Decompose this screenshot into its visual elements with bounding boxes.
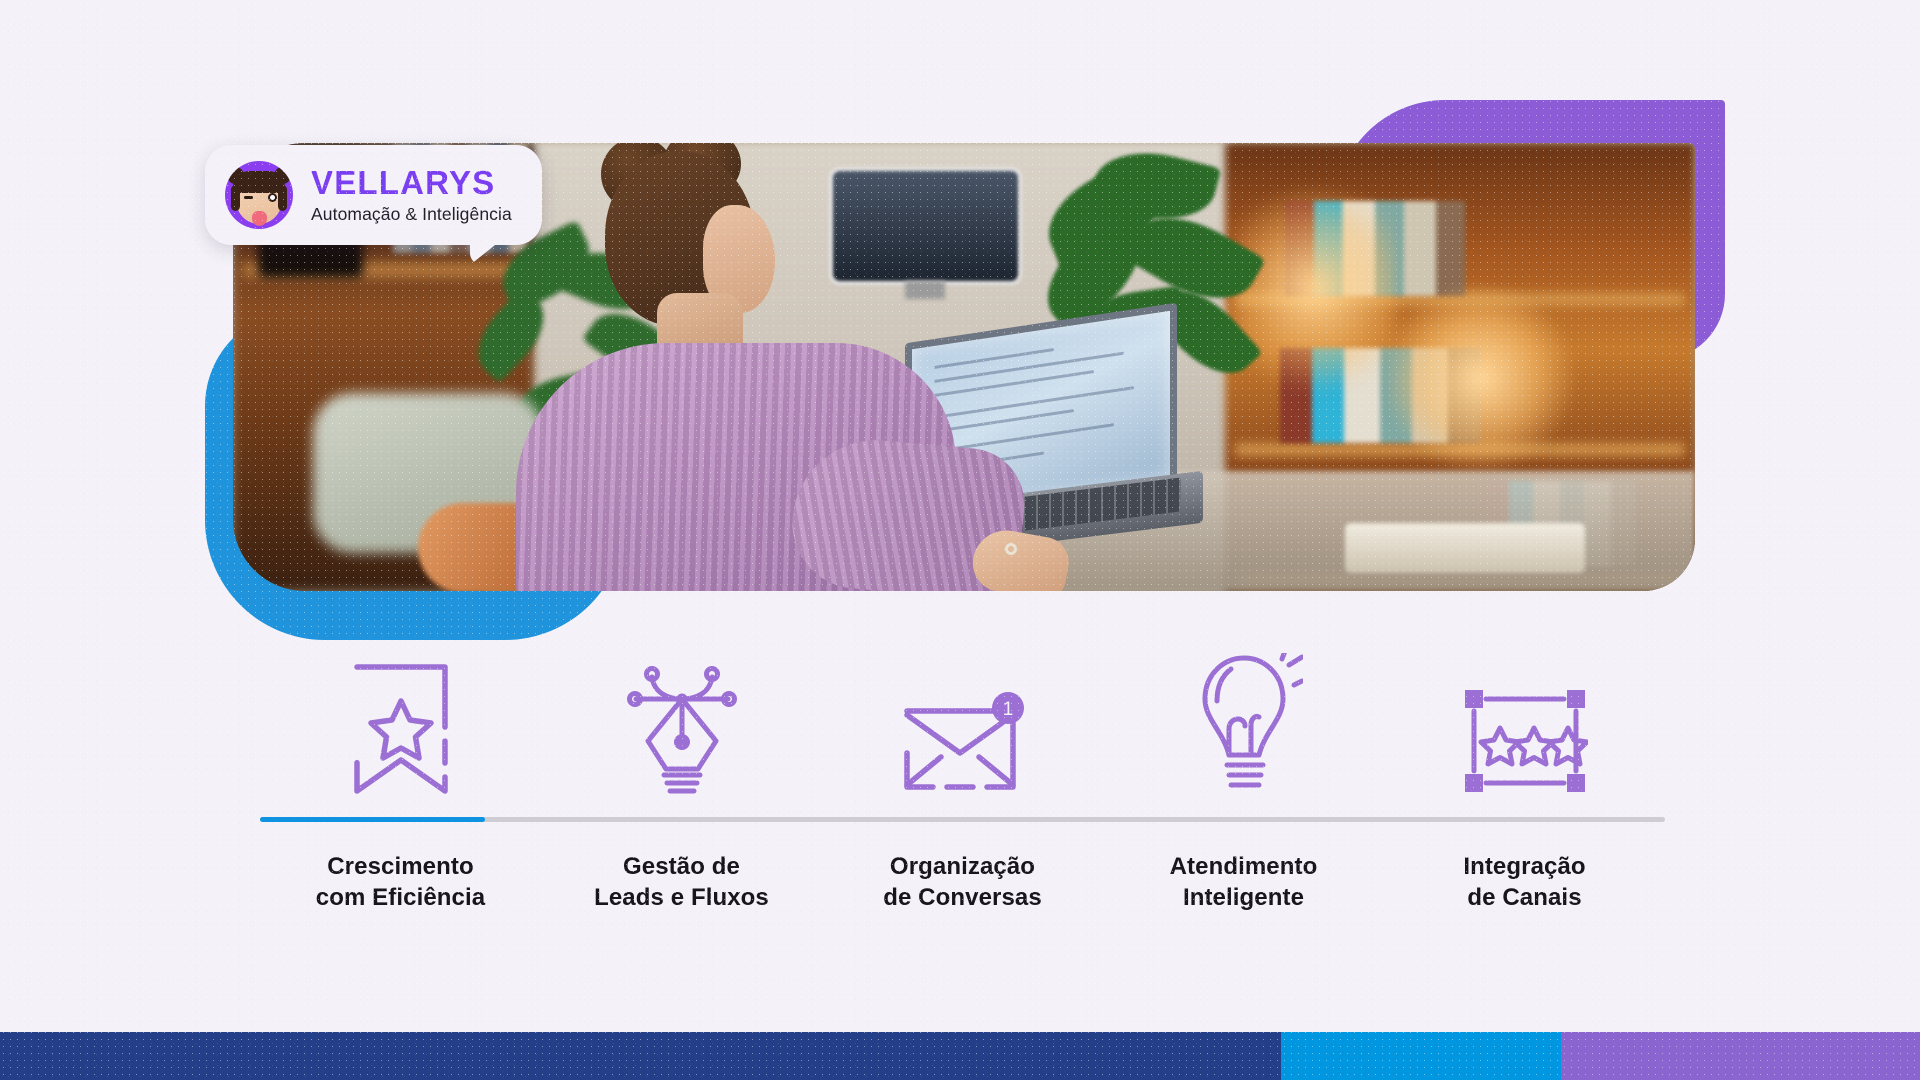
envelope-badge-icon: 1 xyxy=(901,691,1025,795)
feature-icon-cell[interactable] xyxy=(541,645,822,795)
bookmark-star-icon xyxy=(349,663,453,795)
bottom-bar-segment-navy xyxy=(0,1032,1281,1080)
speech-bubble-tail-icon xyxy=(470,225,500,265)
feature-label: Integração de Canais xyxy=(1384,852,1665,913)
feature-label-line2: Leads e Fluxos xyxy=(541,883,822,914)
progress-track[interactable] xyxy=(260,817,1665,822)
bottom-bar-segment-cyan xyxy=(1281,1032,1561,1080)
feature-label-line1: Crescimento xyxy=(260,852,541,883)
feature-label: Atendimento Inteligente xyxy=(1103,852,1384,913)
feature-label-row: Crescimento com Eficiência Gestão de Lea… xyxy=(260,852,1665,913)
bottom-bar-segment-purple xyxy=(1561,1032,1920,1080)
feature-label: Organização de Conversas xyxy=(822,852,1103,913)
feature-label-line1: Integração xyxy=(1384,852,1665,883)
feature-icon-cell[interactable] xyxy=(1384,687,1665,795)
brand-name: VELLARYS xyxy=(311,166,512,199)
feature-label-line1: Organização xyxy=(822,852,1103,883)
feature-strip: 1 xyxy=(260,655,1665,913)
feature-label-line2: Inteligente xyxy=(1103,883,1384,914)
feature-label-line2: de Conversas xyxy=(822,883,1103,914)
brand-tagline: Automação & Inteligência xyxy=(311,206,512,224)
lightbulb-idea-icon xyxy=(1185,653,1303,795)
brand-badge[interactable]: VELLARYS Automação & Inteligência xyxy=(205,145,542,245)
feature-label: Crescimento com Eficiência xyxy=(260,852,541,913)
feature-label-line2: com Eficiência xyxy=(260,883,541,914)
feature-icon-cell[interactable]: 1 xyxy=(822,691,1103,795)
feature-label: Gestão de Leads e Fluxos xyxy=(541,852,822,913)
brand-text: VELLARYS Automação & Inteligência xyxy=(311,166,512,224)
feature-label-line1: Atendimento xyxy=(1103,852,1384,883)
feature-icon-row: 1 xyxy=(260,655,1665,795)
feature-icon-cell[interactable] xyxy=(260,663,541,795)
feature-label-line1: Gestão de xyxy=(541,852,822,883)
bottom-color-bar xyxy=(0,1032,1920,1080)
feature-icon-cell[interactable] xyxy=(1103,653,1384,795)
envelope-badge-count: 1 xyxy=(1002,699,1013,720)
feature-label-line2: de Canais xyxy=(1384,883,1665,914)
winking-girl-avatar-icon xyxy=(225,161,293,229)
progress-fill xyxy=(260,817,485,822)
pen-nib-node-icon xyxy=(626,645,738,795)
selection-frame-stars-icon xyxy=(1462,687,1588,795)
hero-banner: VELLARYS Automação & Inteligência xyxy=(205,100,1725,640)
